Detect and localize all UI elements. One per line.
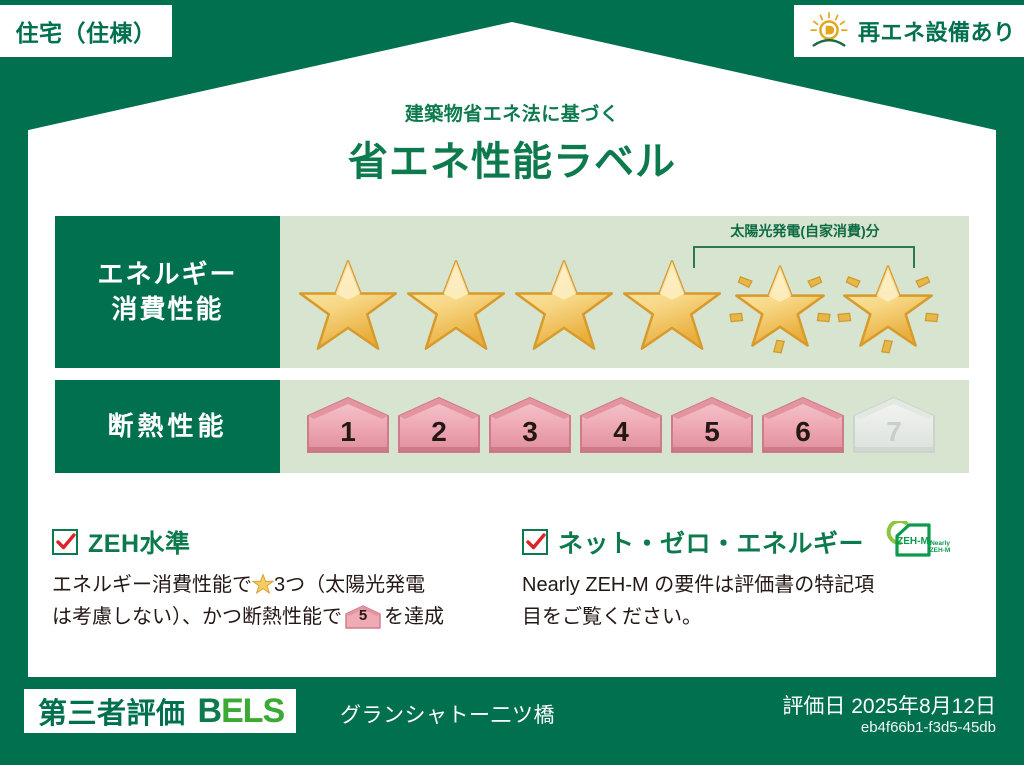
red-check-icon [52, 529, 78, 555]
insulation-label: 断熱性能 [107, 409, 227, 444]
insulation-level-value: 2 [431, 416, 447, 459]
energy-consumption-row: エネルギー 消費性能 太陽光発電(自家消費)分 [55, 216, 969, 368]
evaluation-id: eb4f66b1-f3d5-45db [861, 719, 996, 736]
bels-wordmark: BELS [198, 692, 285, 731]
notes-section: ZEH水準 エネルギー消費性能で3つ（太陽光発電 は考慮しない）、かつ断熱性能で… [52, 524, 972, 654]
nze-body-line2: 目をご覧ください。 [522, 606, 702, 628]
zeh-body-part3: を達成 [384, 606, 444, 628]
insulation-level-badge-inactive: 7 [850, 395, 938, 459]
footer-bar: 第三者評価 BELS グランシャトー二ツ橋 評価日 2025年8月12日 eb4… [0, 677, 1024, 765]
red-check-icon [522, 529, 548, 555]
evaluation-date: 評価日 2025年8月12日 [782, 690, 996, 720]
insulation-level-badge: 6 [759, 395, 847, 459]
insulation-level-badge: 1 [304, 395, 392, 459]
nze-body-line1: Nearly ZEH-M の要件は評価書の特記項 [522, 574, 874, 596]
energy-label-line1: エネルギー [97, 257, 237, 292]
energy-label-line2: 消費性能 [111, 292, 223, 327]
pink-house-icon: 5 [344, 605, 382, 629]
net-zero-energy-heading: ネット・ゼロ・エネルギー ZEH-M Nearly ZEH-M [522, 524, 972, 560]
star-cell [294, 252, 402, 360]
renewable-equipment-badge: 再エネ設備あり [794, 5, 1024, 57]
svg-text:ZEH-M: ZEH-M [930, 547, 951, 554]
zeh-body-star-count: 3つ（太陽光発電 [274, 574, 425, 596]
net-zero-energy-body: Nearly ZEH-M の要件は評価書の特記項 目をご覧ください。 [522, 569, 972, 634]
label-subtitle: 建築物省エネ法に基づく [0, 99, 1024, 126]
solar-bracket-label: 太陽光発電(自家消費)分 [670, 221, 940, 241]
zeh-body-part2: は考慮しない）、かつ断熱性能で [52, 606, 342, 628]
star-cell [510, 252, 618, 360]
svg-text:Nearly: Nearly [930, 540, 950, 547]
solar-bracket [693, 246, 915, 268]
star-cell-solar [834, 252, 942, 360]
dwelling-type-label: 住宅（住棟） [16, 14, 157, 48]
zeh-m-house-logo-icon: ZEH-M Nearly ZEH-M [878, 521, 952, 563]
zeh-standard-body: エネルギー消費性能で3つ（太陽光発電 は考慮しない）、かつ断熱性能で5を達成 [52, 569, 522, 634]
gold-star-icon [252, 573, 274, 595]
bels-wordmark-els: ELS [221, 692, 284, 730]
insulation-row-label: 断熱性能 [55, 380, 280, 473]
label-main-title: 省エネ性能ラベル [0, 129, 1024, 187]
insulation-level-value: 1 [340, 416, 356, 459]
star-cell [402, 252, 510, 360]
zeh-standard-note: ZEH水準 エネルギー消費性能で3つ（太陽光発電 は考慮しない）、かつ断熱性能で… [52, 524, 522, 654]
dwelling-type-tag: 住宅（住棟） [0, 5, 172, 57]
net-zero-energy-note: ネット・ゼロ・エネルギー ZEH-M Nearly ZEH-M Nearly Z… [522, 524, 972, 654]
energy-consumption-row-body: 太陽光発電(自家消費)分 [280, 216, 969, 368]
insulation-level-value: 3 [522, 416, 538, 459]
insulation-level-value: 7 [886, 416, 902, 459]
building-name: グランシャトー二ツ橋 [340, 699, 555, 729]
third-party-evaluation-label: 第三者評価 [38, 690, 186, 732]
zeh-body-part1: エネルギー消費性能で [52, 574, 252, 596]
zeh-standard-heading: ZEH水準 [52, 524, 522, 560]
renewable-equipment-label: 再エネ設備あり [858, 15, 1016, 47]
energy-performance-label: 住宅（住棟） 再エネ設備あり 建築物省エネ法に基づく 省エ [0, 0, 1024, 765]
insulation-level-badge: 3 [486, 395, 574, 459]
insulation-level-value: 4 [613, 416, 629, 459]
solar-sun-icon [808, 11, 850, 51]
insulation-level-value: 6 [795, 416, 811, 459]
insulation-level-badge: 4 [577, 395, 665, 459]
pink-house-value: 5 [344, 604, 382, 628]
insulation-level-badge: 2 [395, 395, 483, 459]
insulation-performance-row: 断熱性能 1 2 3 [55, 380, 969, 473]
star-cell [618, 252, 726, 360]
insulation-level-badge: 5 [668, 395, 756, 459]
svg-text:ZEH-M: ZEH-M [897, 536, 929, 547]
star-cell-solar [726, 252, 834, 360]
insulation-level-strip: 1 2 3 4 5 [280, 380, 969, 473]
bels-logo-plate: 第三者評価 BELS [24, 689, 296, 733]
insulation-level-value: 5 [704, 416, 720, 459]
zeh-standard-title: ZEH水準 [88, 524, 191, 560]
net-zero-energy-title: ネット・ゼロ・エネルギー [558, 524, 864, 560]
insulation-row-body: 1 2 3 4 5 [280, 380, 969, 473]
bels-wordmark-b: B [198, 692, 222, 730]
energy-consumption-row-label: エネルギー 消費性能 [55, 216, 280, 368]
